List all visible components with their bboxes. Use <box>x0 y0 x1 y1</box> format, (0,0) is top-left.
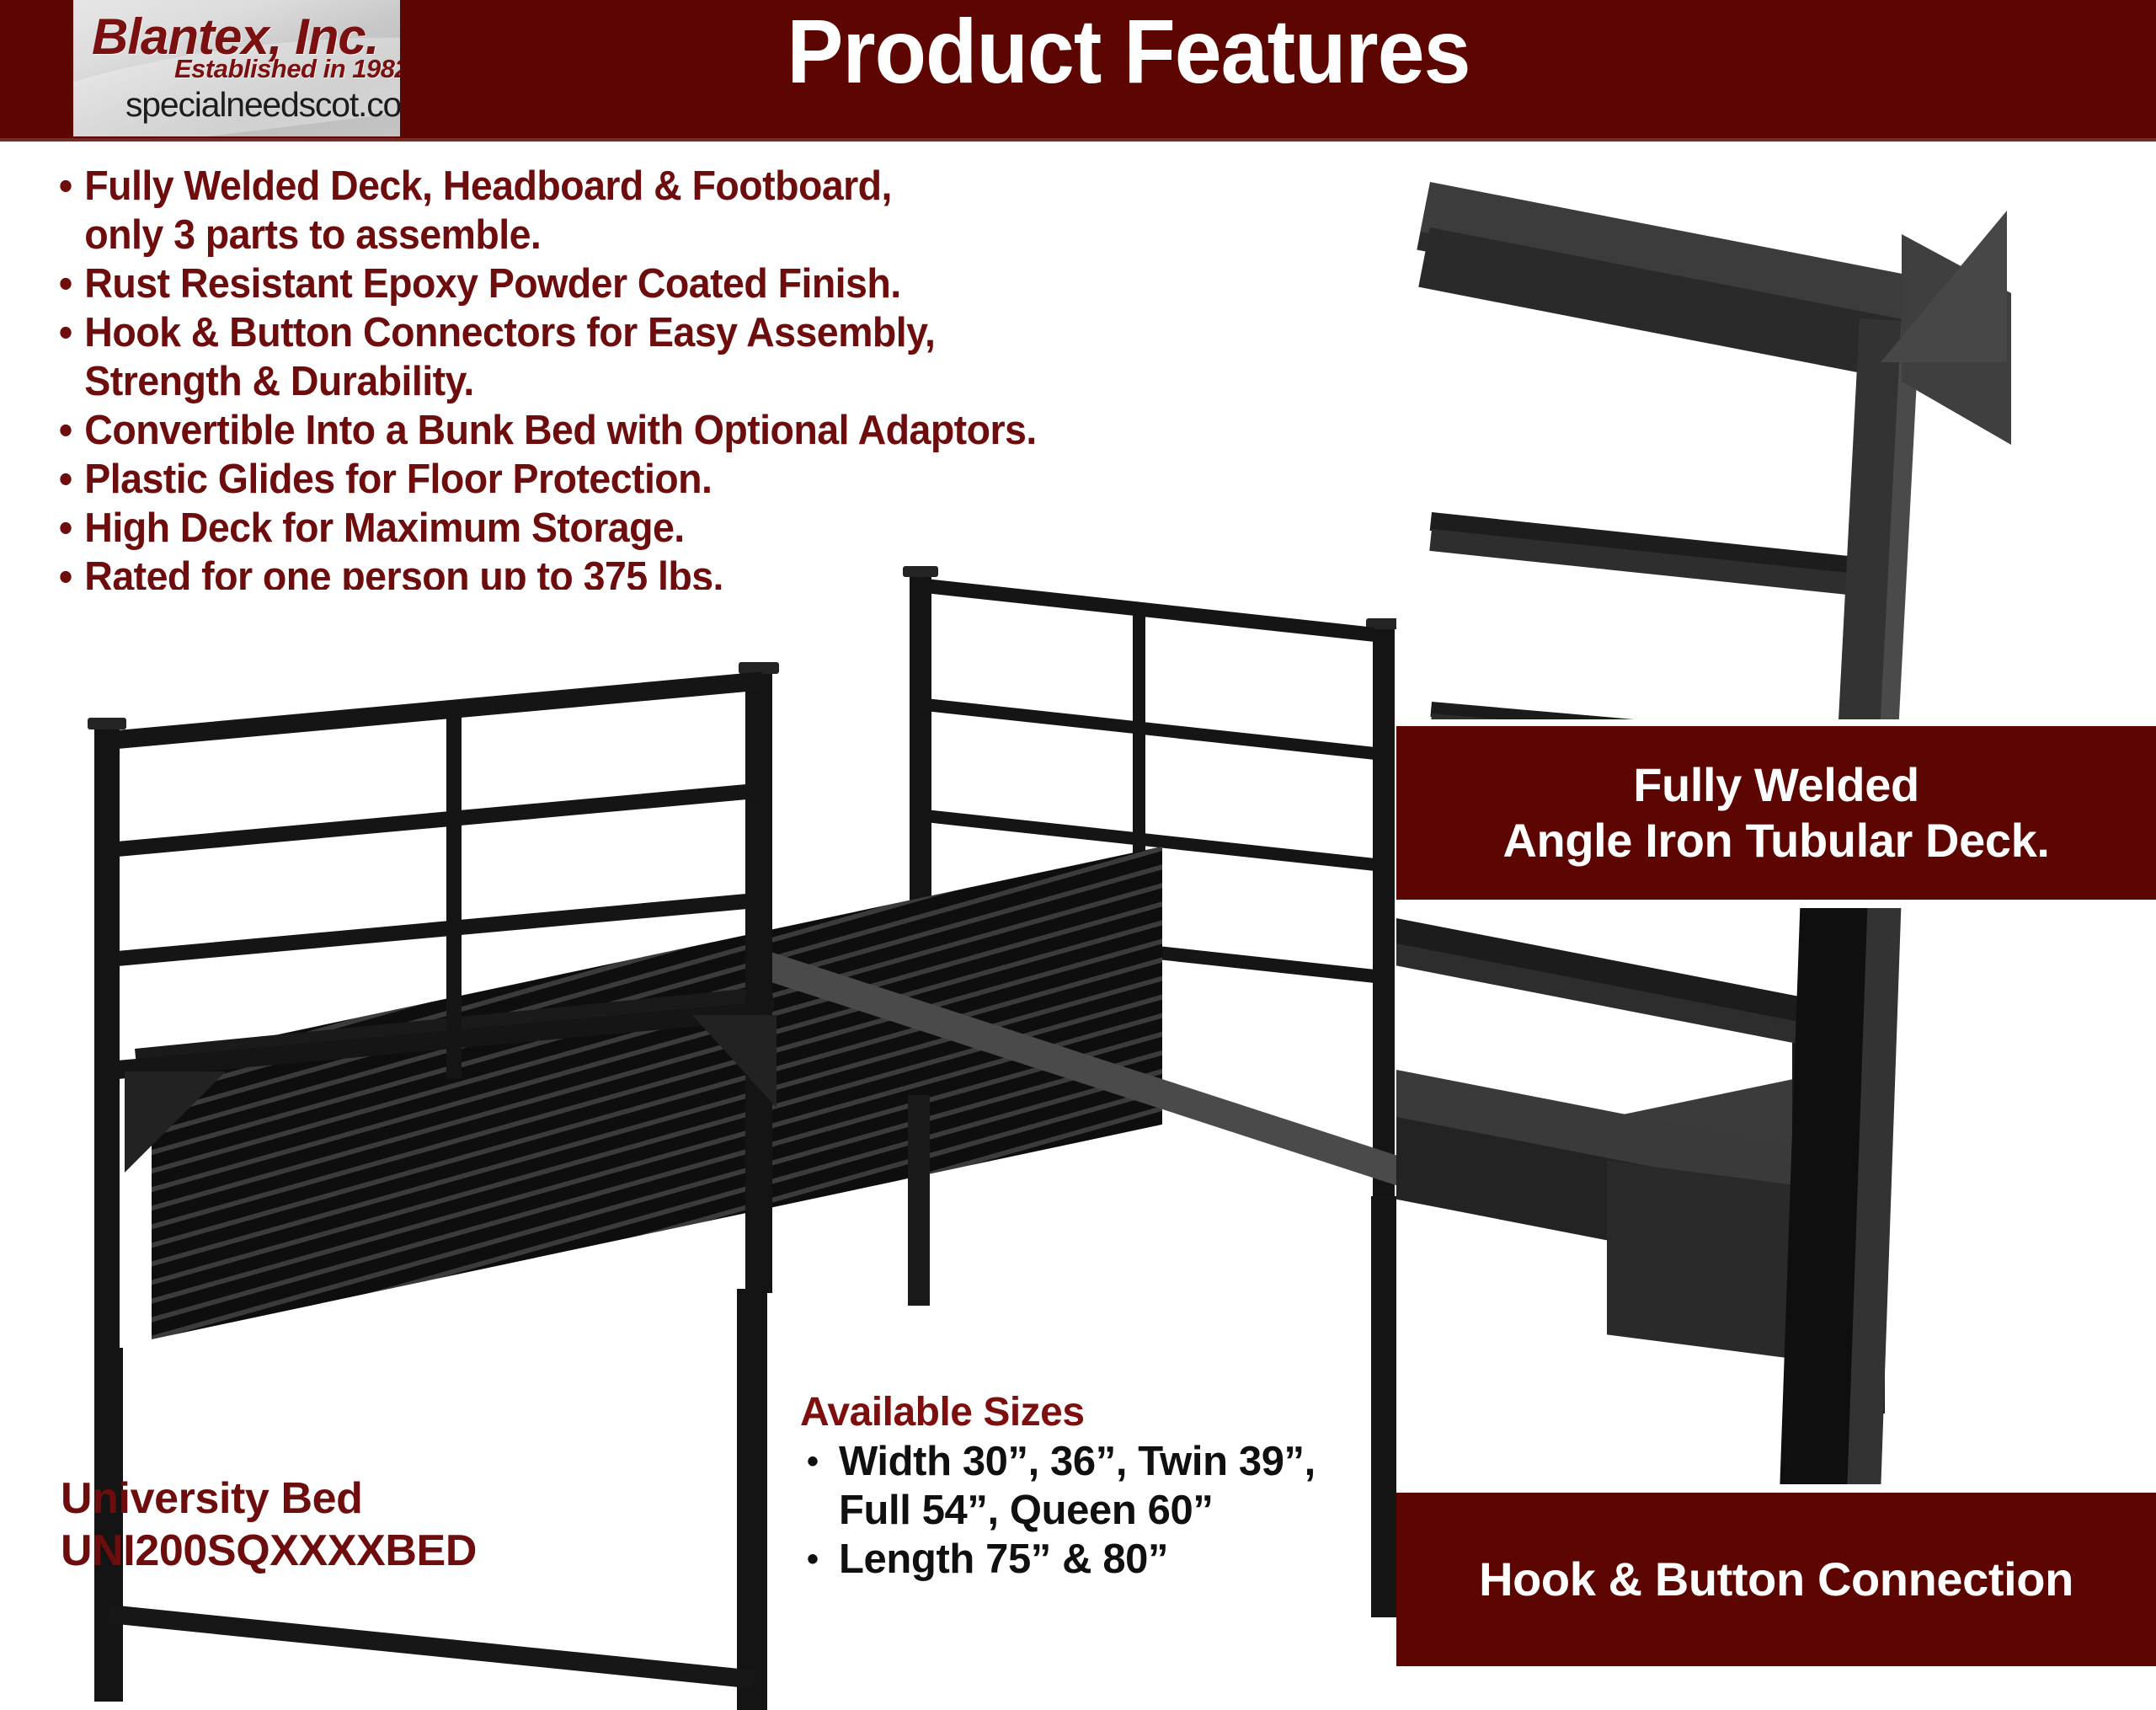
size-item: • Length 75” & 80” <box>800 1535 1406 1584</box>
product-model: UNI200SQXXXXBED <box>61 1525 819 1577</box>
bullet-glyph: • <box>59 504 72 553</box>
company-logo: Blantex, Inc. Established in 1982 specia… <box>73 0 400 136</box>
far-headboard-post-right <box>1373 625 1395 1215</box>
feature-text: Plastic Glides for Floor Protection. <box>84 455 1257 504</box>
feature-item: • Fully Welded Deck, Headboard & Footboa… <box>57 162 1257 211</box>
feature-text: Rust Resistant Epoxy Powder Coated Finis… <box>84 259 1257 308</box>
bullet-glyph: • <box>59 259 72 308</box>
welded-deck-caption: Fully Welded Angle Iron Tubular Deck. <box>1396 726 2156 900</box>
product-label: University Bed UNI200SQXXXXBED <box>61 1472 819 1577</box>
size-item: • Width 30”, 36”, Twin 39”, <box>800 1437 1406 1486</box>
feature-text: Fully Welded Deck, Headboard & Footboard… <box>84 162 1257 211</box>
header-bottom-edge <box>0 138 2156 142</box>
near-post-left-cap <box>88 718 126 729</box>
page-title: Product Features <box>580 2 1677 103</box>
caption-line-1: Hook & Button Connection <box>1479 1552 2073 1607</box>
features-list: • Fully Welded Deck, Headboard & Footboa… <box>57 162 1321 601</box>
feature-item: • Hook & Button Connectors for Easy Asse… <box>57 308 1257 357</box>
hook-button-detail-photo <box>1396 908 2156 1484</box>
feature-text: only 3 parts to assemble. <box>84 211 1257 259</box>
welded-deck-detail-photo <box>1396 150 2156 719</box>
bullet-glyph: • <box>807 1437 819 1486</box>
far-headboard-rail <box>916 697 1374 760</box>
deck-crossbar-lower <box>1430 702 1901 719</box>
available-sizes-block: Available Sizes • Width 30”, 36”, Twin 3… <box>800 1388 1406 1584</box>
bullet-glyph: • <box>59 162 72 211</box>
logo-website: specialneedscot.com <box>125 88 400 122</box>
near-headboard-rail <box>108 671 764 750</box>
far-post-left-cap <box>903 566 938 577</box>
logo-tagline: Established in 1982 <box>174 56 400 82</box>
feature-item-continuation: Strength & Durability. <box>57 357 1257 406</box>
available-sizes-title: Available Sizes <box>800 1388 1406 1437</box>
available-sizes-list: • Width 30”, 36”, Twin 39”, Full 54”, Qu… <box>800 1437 1406 1584</box>
bullet-glyph: • <box>807 1535 819 1584</box>
bullet-glyph: • <box>59 455 72 504</box>
feature-item: • Convertible Into a Bunk Bed with Optio… <box>57 406 1257 455</box>
hook-button-caption: Hook & Button Connection <box>1396 1493 2156 1666</box>
deck-slats <box>152 847 1162 1339</box>
near-headboard-center-stile <box>446 716 462 1078</box>
bed-leg-back-left <box>908 1095 930 1306</box>
size-text: Length 75” & 80” <box>839 1536 1168 1582</box>
near-headboard-post-right <box>745 670 772 1293</box>
size-item-continuation: Full 54”, Queen 60” <box>800 1486 1406 1535</box>
size-text: Full 54”, Queen 60” <box>839 1488 1213 1533</box>
feature-text: High Deck for Maximum Storage. <box>84 504 1257 553</box>
feature-text: Convertible Into a Bunk Bed with Optiona… <box>84 406 1257 455</box>
caption-line-1: Fully Welded <box>1502 757 2049 813</box>
feature-item: • High Deck for Maximum Storage. <box>57 504 1257 553</box>
caption-line-2: Angle Iron Tubular Deck. <box>1502 813 2049 868</box>
bullet-glyph: • <box>59 406 72 455</box>
feature-text: Hook & Button Connectors for Easy Assemb… <box>84 308 1257 357</box>
feature-item: • Plastic Glides for Floor Protection. <box>57 455 1257 504</box>
size-text: Width 30”, 36”, Twin 39”, <box>839 1439 1315 1484</box>
feature-item-continuation: only 3 parts to assemble. <box>57 211 1257 259</box>
near-headboard-rail <box>108 783 763 858</box>
bed-stretcher-bar <box>108 1605 755 1689</box>
feature-item: • Rust Resistant Epoxy Powder Coated Fin… <box>57 259 1257 308</box>
header-bar: Blantex, Inc. Established in 1982 specia… <box>0 0 2156 142</box>
product-name: University Bed <box>61 1472 819 1525</box>
feature-text: Strength & Durability. <box>84 357 1257 406</box>
bullet-glyph: • <box>59 308 72 357</box>
